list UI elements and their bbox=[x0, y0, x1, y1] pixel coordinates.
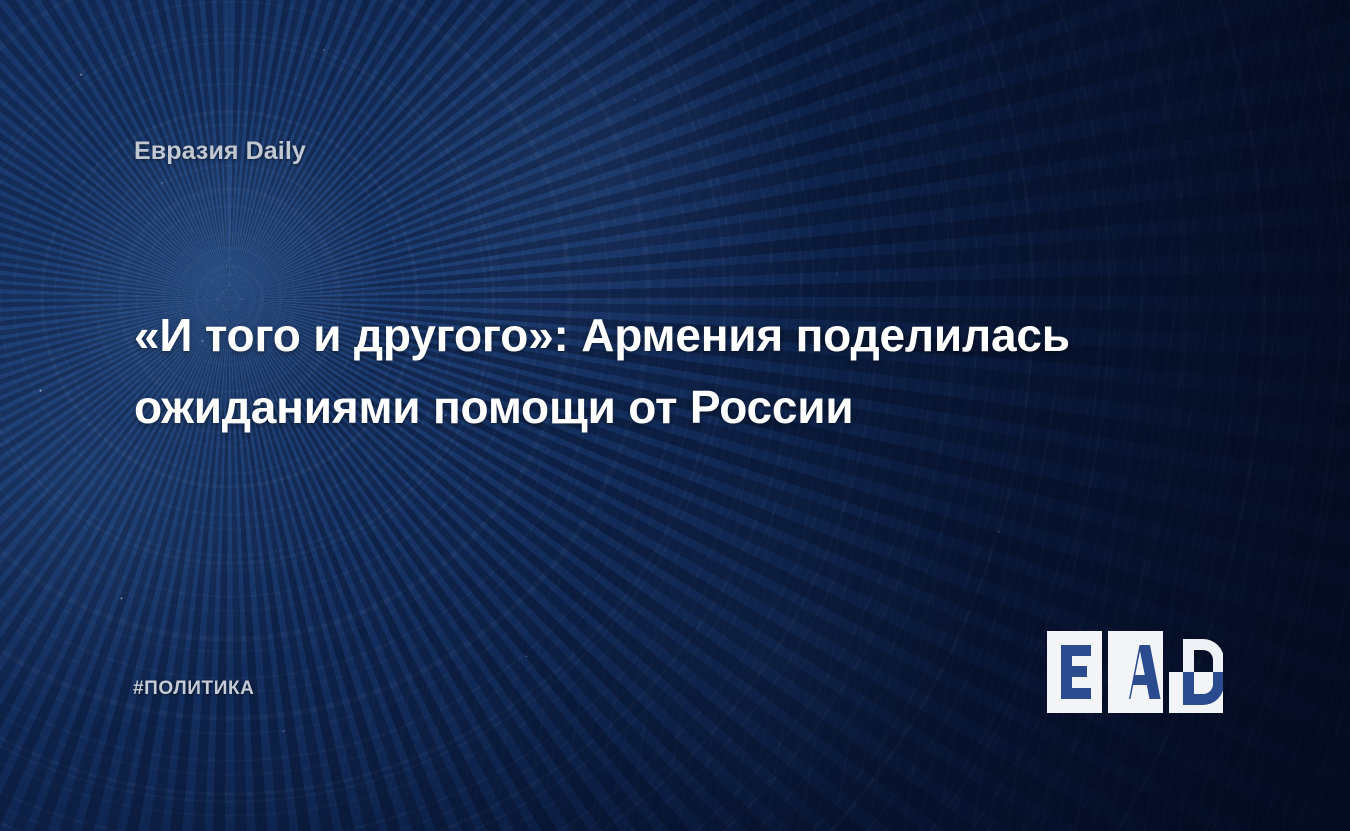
ead-logo-icon bbox=[1047, 631, 1223, 713]
page-title: «И того и другого»: Армения поделилась о… bbox=[134, 299, 1244, 443]
card-content: Евразия Daily «И того и другого»: Армени… bbox=[0, 0, 1350, 831]
news-cover-card: Евразия Daily «И того и другого»: Армени… bbox=[0, 0, 1350, 831]
brand-name: Евразия Daily bbox=[134, 137, 306, 166]
ead-logo-svg bbox=[1047, 631, 1223, 713]
category-tag: #ПОЛИТИКА bbox=[133, 678, 255, 700]
